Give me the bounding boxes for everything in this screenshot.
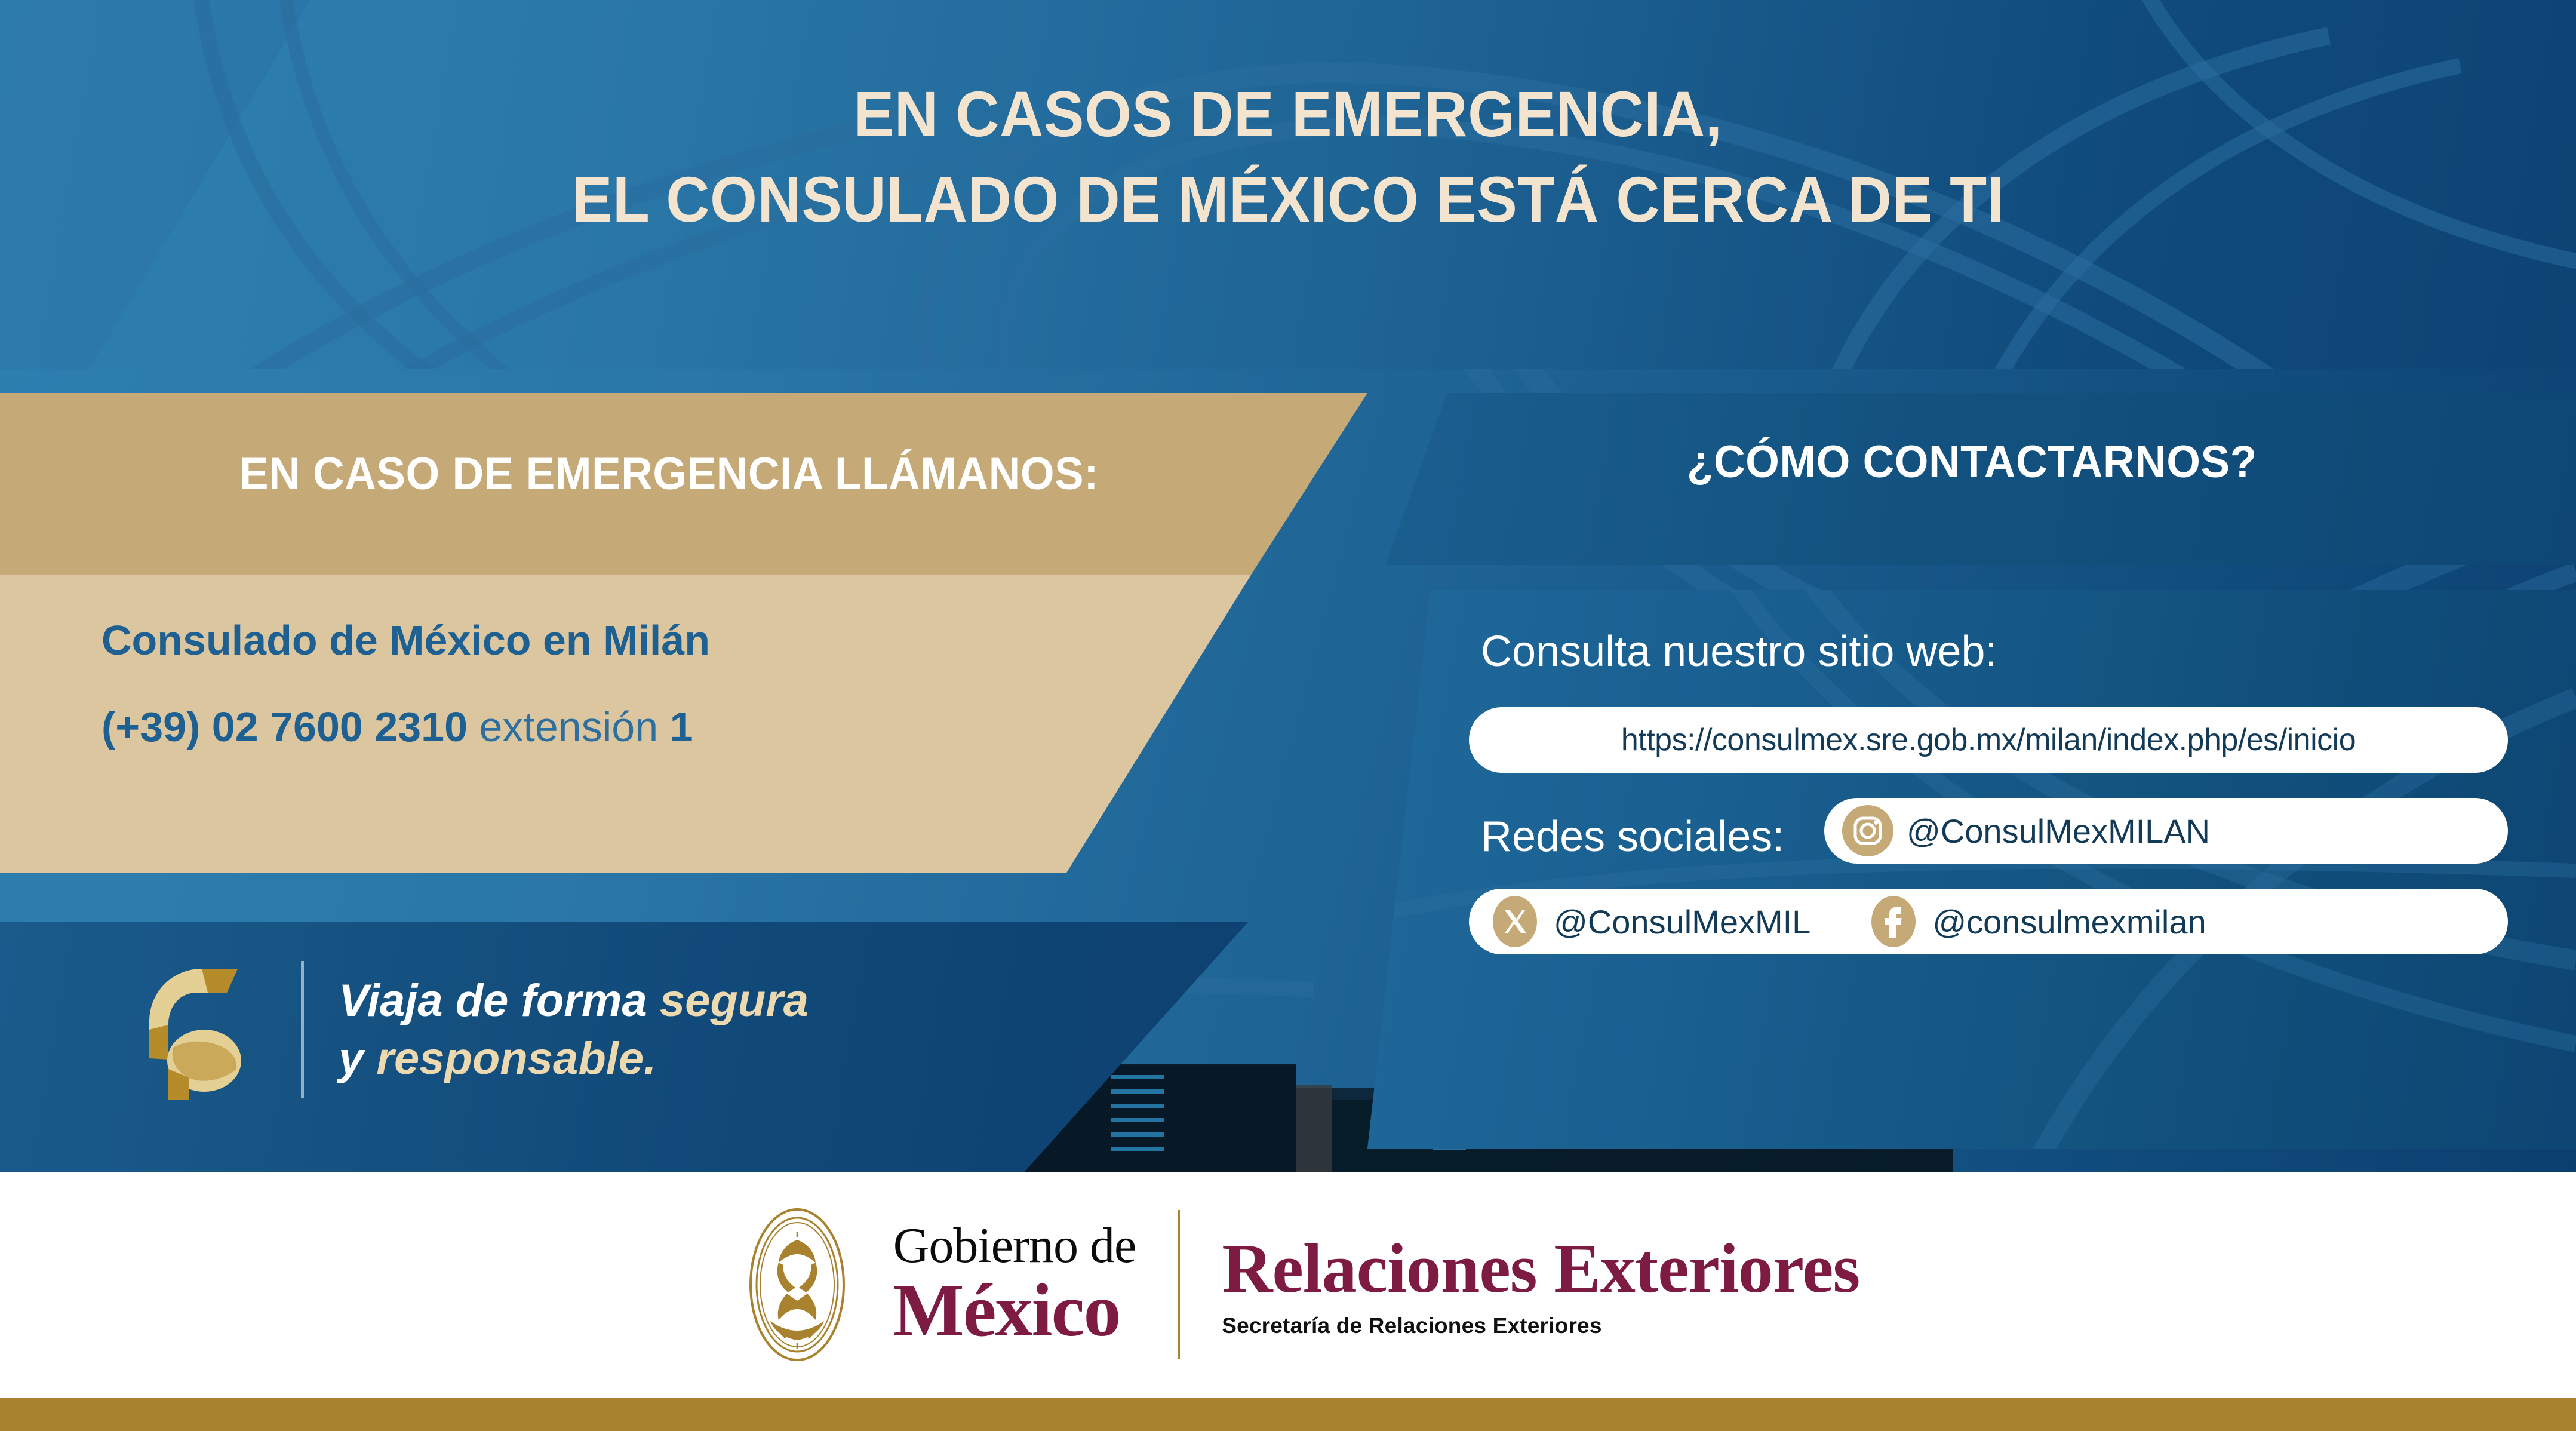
contact-panel-header-label: ¿CÓMO CONTACTARNOS? bbox=[1367, 436, 2576, 488]
footer: E Gobierno de México Relaciones Exterior… bbox=[0, 1172, 2576, 1398]
emergency-contact-poster: EN CASOS DE EMERGENCIA, EL CONSULADO DE … bbox=[0, 0, 2576, 1431]
page-title: EN CASOS DE EMERGENCIA, EL CONSULADO DE … bbox=[0, 72, 2576, 242]
facebook-icon[interactable] bbox=[1868, 896, 1919, 947]
instagram-handle[interactable]: @ConsulMexMILAN bbox=[1907, 812, 2210, 850]
x-facebook-pill[interactable]: @ConsulMexMIL @consulmexmilan bbox=[1469, 889, 2508, 954]
contact-panel: ¿CÓMO CONTACTARNOS? Consulta nuestro sit… bbox=[1367, 393, 2576, 1149]
mexico-label: México bbox=[893, 1273, 1136, 1349]
emergency-call-header: EN CASO DE EMERGENCIA LLÁMANOS: bbox=[0, 393, 1367, 575]
hero-section: EN CASOS DE EMERGENCIA, EL CONSULADO DE … bbox=[0, 0, 2576, 369]
phone-number: (+39) 02 7600 2310 bbox=[102, 704, 468, 750]
bottom-gold-bar bbox=[0, 1398, 2576, 1431]
travel-divider bbox=[301, 961, 304, 1098]
website-url-text[interactable]: https://consulmex.sre.gob.mx/milan/index… bbox=[1621, 722, 2356, 758]
instagram-pill[interactable]: @ConsulMexMILAN bbox=[1824, 798, 2508, 864]
contact-panel-header: ¿CÓMO CONTACTARNOS? bbox=[1367, 393, 2576, 565]
sre-logo: Relaciones Exteriores Secretaría de Rela… bbox=[1222, 1233, 1859, 1337]
extension-label: extensión bbox=[479, 704, 658, 750]
travel-line2-gold: responsable. bbox=[364, 1033, 656, 1084]
emergency-call-body: Consulado de México en Milán (+39) 02 76… bbox=[0, 575, 1367, 873]
consulate-phone-row: (+39) 02 7600 2310 extensión 1 bbox=[102, 703, 693, 751]
x-twitter-icon[interactable] bbox=[1489, 896, 1541, 947]
extension-value: 1 bbox=[670, 704, 693, 750]
emergency-call-header-label: EN CASO DE EMERGENCIA LLÁMANOS: bbox=[0, 448, 1338, 500]
sre-sub-label: Secretaría de Relaciones Exteriores bbox=[1222, 1315, 1859, 1337]
hero-title-line-1: EN CASOS DE EMERGENCIA, bbox=[77, 72, 2498, 157]
website-label: Consulta nuestro sitio web: bbox=[1481, 627, 1997, 676]
website-url-pill[interactable]: https://consulmex.sre.gob.mx/milan/index… bbox=[1469, 707, 2508, 773]
footer-divider bbox=[1178, 1210, 1180, 1359]
body-section: EN CASO DE EMERGENCIA LLÁMANOS: Consulad… bbox=[0, 369, 2576, 1172]
emergency-call-panel: EN CASO DE EMERGENCIA LLÁMANOS: Consulad… bbox=[0, 393, 1367, 896]
travel-line2-white: y bbox=[339, 1033, 364, 1084]
travel-safe-message: Viaja de forma segura y responsable. bbox=[339, 972, 809, 1088]
mexican-national-seal-icon: E bbox=[717, 1204, 878, 1365]
instagram-icon[interactable] bbox=[1842, 805, 1893, 856]
gobierno-label: Gobierno de bbox=[893, 1221, 1136, 1271]
travel-line1-white: Viaja de forma bbox=[339, 975, 647, 1026]
hero-title-line-2: EL CONSULADO DE MÉXICO ESTÁ CERCA DE TI bbox=[77, 157, 2498, 242]
facebook-handle[interactable]: @consulmexmilan bbox=[1932, 902, 2206, 941]
travel-line1-gold: segura bbox=[647, 975, 809, 1026]
social-networks-label: Redes sociales: bbox=[1481, 812, 1784, 861]
globe-hexagon-logo-icon bbox=[137, 958, 281, 1101]
gobierno-de-mexico-logo: Gobierno de México bbox=[893, 1221, 1136, 1349]
contact-panel-body: Consulta nuestro sitio web: https://cons… bbox=[1367, 590, 2576, 1149]
sre-main-label: Relaciones Exteriores bbox=[1222, 1233, 1859, 1304]
consulate-name: Consulado de México en Milán bbox=[102, 616, 710, 664]
x-handle[interactable]: @ConsulMexMIL bbox=[1554, 902, 1810, 941]
